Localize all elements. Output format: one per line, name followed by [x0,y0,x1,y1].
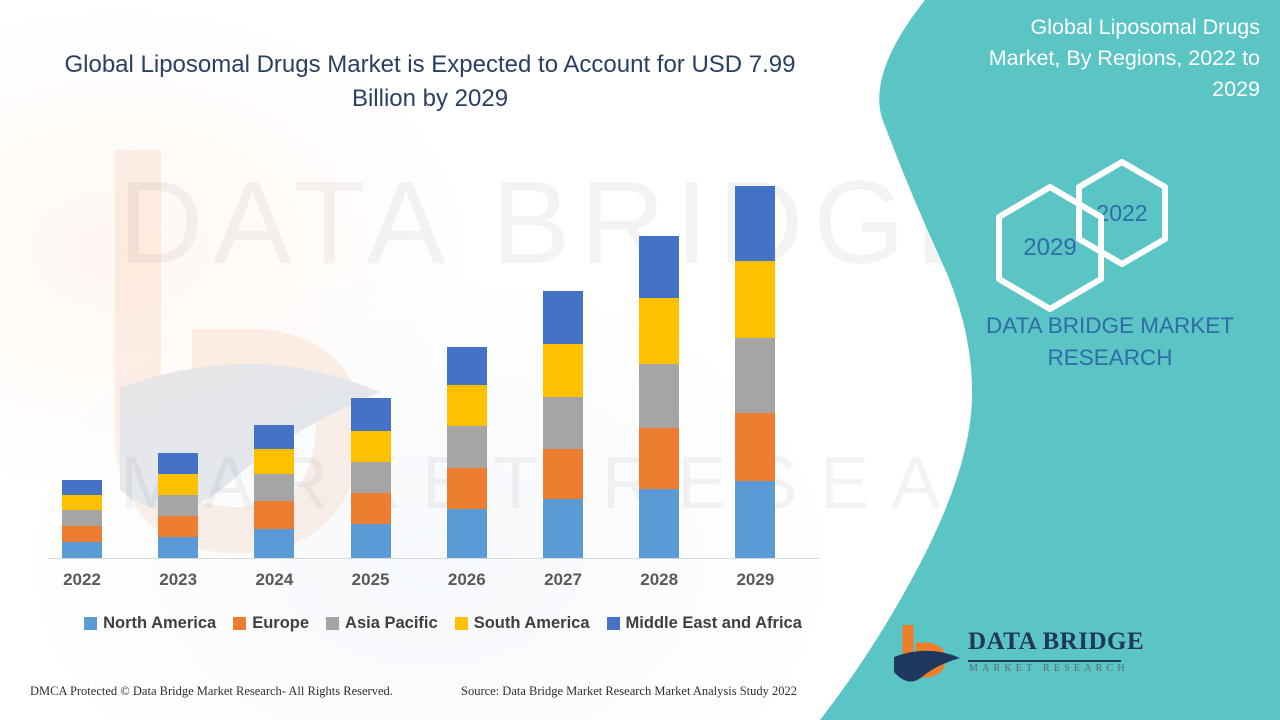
legend-item[interactable]: North America [84,614,216,633]
hexagon-badge-2029: 2029 [991,182,1109,314]
legend-label: North America [103,614,216,633]
panel-brand-text: DATA BRIDGE MARKET RESEARCH [960,310,1260,374]
bar-2027 [543,291,583,559]
hexagon-icon [991,182,1109,314]
chart-legend: North AmericaEuropeAsia PacificSouth Ame… [48,614,838,633]
legend-label: South America [474,614,590,633]
bar-segment [254,425,294,449]
footer-dmca-text: DMCA Protected © Data Bridge Market Rese… [30,684,393,699]
legend-swatch-icon [326,617,339,630]
data-bridge-logo-icon [890,622,962,684]
bar-segment [543,499,583,559]
bar-segment [543,449,583,499]
chart-plot-area [48,150,840,559]
footer-source-text: Source: Data Bridge Market Research Mark… [461,684,797,699]
brand-panel: Global Liposomal Drugs Market, By Region… [820,0,1280,720]
bar-2022 [62,480,102,559]
bar-segment [639,298,679,364]
x-axis-label-2028: 2028 [629,570,689,590]
x-axis-label-2026: 2026 [437,570,497,590]
bar-segment [639,428,679,489]
bar-2029 [735,186,775,559]
x-axis-label-2025: 2025 [341,570,401,590]
logo-sub-text: MARKET RESEARCH [969,663,1129,674]
x-axis-label-2024: 2024 [244,570,304,590]
x-axis-label-2023: 2023 [148,570,208,590]
bar-segment [254,474,294,501]
footer: DMCA Protected © Data Bridge Market Rese… [0,684,860,710]
bar-segment [639,489,679,559]
bar-segment [735,481,775,559]
bar-segment [639,236,679,298]
logo-divider [968,660,1121,662]
bar-segment [735,413,775,481]
bar-segment [158,537,198,559]
x-axis-label-2029: 2029 [725,570,785,590]
legend-swatch-icon [455,617,468,630]
bar-chart: 20222023202420252026202720282029 [0,0,860,600]
bar-segment [254,449,294,474]
bar-2025 [351,398,391,559]
bar-segment [351,398,391,431]
bar-segment [62,510,102,526]
legend-swatch-icon [84,617,97,630]
bar-2023 [158,453,198,559]
bar-segment [351,493,391,524]
bar-segment [735,261,775,338]
legend-label: Middle East and Africa [626,614,802,633]
legend-label: Asia Pacific [345,614,438,633]
bar-segment [447,468,487,509]
bar-segment [62,542,102,559]
bar-segment [158,453,198,474]
bar-segment [447,509,487,559]
bar-segment [62,495,102,510]
panel-content: Global Liposomal Drugs Market, By Region… [820,0,1280,720]
bar-segment [543,344,583,397]
x-axis-label-2027: 2027 [533,570,593,590]
legend-item[interactable]: South America [455,614,590,633]
x-axis-label-2022: 2022 [52,570,112,590]
chart-baseline-axis [48,558,820,559]
bar-segment [351,524,391,559]
bar-segment [735,338,775,413]
bar-2024 [254,425,294,559]
bar-segment [62,480,102,495]
bar-2028 [639,236,679,559]
panel-title: Global Liposomal Drugs Market, By Region… [965,12,1260,106]
bar-segment [447,426,487,468]
bar-segment [543,291,583,344]
bar-segment [351,431,391,462]
bar-2026 [447,347,487,559]
bar-segment [543,397,583,449]
legend-swatch-icon [233,617,246,630]
bar-segment [254,501,294,529]
legend-item[interactable]: Middle East and Africa [607,614,802,633]
company-logo: DATA BRIDGE MARKET RESEARCH [890,620,1150,690]
bar-segment [158,495,198,516]
bar-segment [158,474,198,495]
bar-segment [447,347,487,385]
bar-segment [62,526,102,542]
bar-segment [639,364,679,428]
chart-x-axis: 20222023202420252026202720282029 [48,570,840,600]
bar-segment [447,385,487,426]
legend-label: Europe [252,614,309,633]
legend-item[interactable]: Asia Pacific [326,614,438,633]
logo-main-text: DATA BRIDGE [968,628,1144,656]
bar-segment [158,516,198,537]
bar-segment [254,529,294,559]
legend-swatch-icon [607,617,620,630]
legend-item[interactable]: Europe [233,614,309,633]
bar-segment [351,462,391,493]
bar-segment [735,186,775,261]
